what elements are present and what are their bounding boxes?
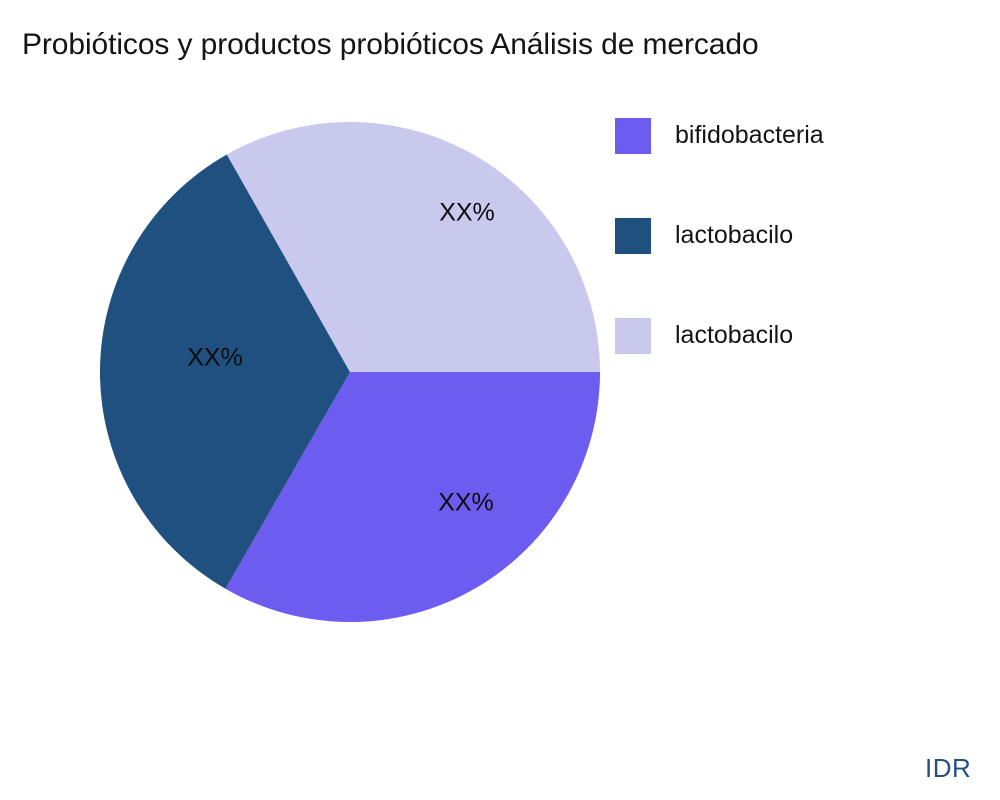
legend-label-lactobacilo-light: lactobacilo bbox=[675, 317, 793, 353]
pie-svg bbox=[100, 122, 600, 622]
legend-label-bifidobacteria: bifidobacteria bbox=[675, 117, 824, 153]
pie-chart: XX% XX% XX% bbox=[100, 122, 600, 622]
chart-canvas: Probióticos y productos probióticos Anál… bbox=[0, 0, 1000, 800]
slice-label-lactobacilo-dark: XX% bbox=[187, 346, 243, 371]
legend-item-lactobacilo-dark[interactable]: lactobacilo bbox=[615, 218, 1000, 318]
legend-item-lactobacilo-light[interactable]: lactobacilo bbox=[615, 318, 1000, 418]
legend-item-bifidobacteria[interactable]: bifidobacteria bbox=[615, 118, 1000, 218]
watermark-idr: IDR bbox=[925, 753, 971, 783]
slice-label-bifidobacteria: XX% bbox=[438, 491, 494, 516]
legend-swatch-lactobacilo-light bbox=[615, 318, 651, 354]
legend-label-lactobacilo-dark: lactobacilo bbox=[675, 217, 793, 253]
slice-label-lactobacilo-light: XX% bbox=[439, 201, 495, 226]
chart-title: Probióticos y productos probióticos Anál… bbox=[22, 27, 759, 63]
chart-legend: bifidobacteria lactobacilo lactobacilo bbox=[615, 118, 1000, 418]
legend-swatch-bifidobacteria bbox=[615, 118, 651, 154]
legend-swatch-lactobacilo-dark bbox=[615, 218, 651, 254]
